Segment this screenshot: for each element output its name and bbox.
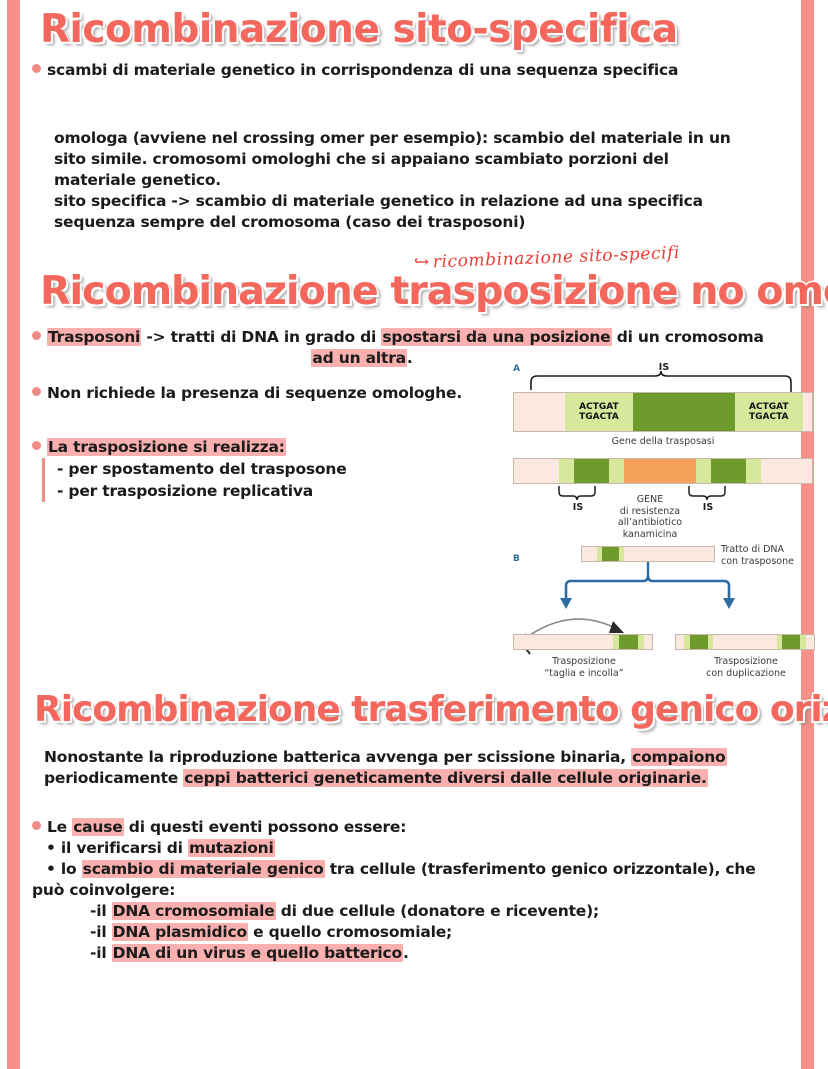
paragraph-omologa-line-2: sito simile. cromosomi omologhi che si a…: [54, 149, 784, 170]
heading-trasferimento-genico-orizzontale: Ricombinazione trasferimento genico oriz…: [34, 692, 828, 728]
bullet-dot-icon: [32, 64, 41, 73]
bullet-dot-icon: [32, 441, 41, 450]
sub1-highlight: mutazioni: [188, 839, 275, 857]
nonostante-highlight-1: compaiono: [631, 748, 726, 766]
heading-ricombinazione-sito-specifica: Ricombinazione sito-specifica: [40, 10, 678, 49]
notes-page: Ricombinazione sito-specifica scambi di …: [0, 0, 828, 1069]
trasposoni-tail: .: [407, 349, 413, 367]
cut-paste-result-bar: [513, 634, 653, 650]
cause-item-2: -il DNA plasmidico e quello cromosomiale…: [32, 922, 812, 943]
bullet-dot-icon: [32, 387, 41, 396]
bullet-scambi-materiale-genetico: scambi di materiale genetico in corrispo…: [32, 60, 678, 81]
trasposoni-highlight-1: Trasposoni: [47, 328, 141, 346]
item1-pre: -il: [90, 902, 112, 920]
caption-taglia-line-1: Trasposizione: [519, 656, 649, 668]
item3-pre: -il: [90, 944, 112, 962]
item1-highlight: DNA cromosomiale: [112, 902, 276, 920]
caption-duplicazione: Trasposizione con duplicazione: [681, 656, 811, 679]
trasposoni-highlight-2: spostarsi da una posizione: [381, 328, 611, 346]
sub2-highlight: scambio di materiale genico: [82, 860, 325, 878]
caption-duplicazione-line-1: Trasposizione: [681, 656, 811, 668]
realizza-item-1: - per spostamento del trasposone: [42, 458, 347, 480]
bullet-scambi-label: scambi di materiale genetico in corrispo…: [47, 61, 678, 79]
trasposoni-mid-2: di un cromosoma: [612, 328, 764, 346]
bullet-non-richiede: Non richiede la presenza di sequenze omo…: [32, 383, 462, 404]
cause-pre: Le: [47, 818, 72, 836]
handwritten-annotation-text: ricombinazione sito-specifi: [432, 243, 680, 272]
bullet-trasposizione-si-realizza: La trasposizione si realizza: - per spos…: [32, 437, 347, 502]
paragraph-omologa: omologa (avviene nel crossing omer per e…: [54, 128, 784, 233]
nonostante-highlight-2: ceppi batterici geneticamente diversi da…: [183, 769, 707, 787]
paragraph-omologa-line-1: omologa (avviene nel crossing omer per e…: [54, 128, 784, 149]
bullet-dot-icon: [32, 331, 41, 340]
sub1-pre: • il verificarsi di: [46, 839, 188, 857]
caption-taglia-line-2: “taglia e incolla”: [519, 668, 649, 680]
nonostante-part-2: periodicamente: [44, 769, 183, 787]
item3-post: .: [403, 944, 409, 962]
item2-pre: -il: [90, 923, 112, 941]
bullet-le-cause: Le cause di questi eventi possono essere…: [32, 817, 812, 964]
cause-sub-bullet-mutazioni: • il verificarsi di mutazioni: [32, 838, 812, 859]
page-content: Ricombinazione sito-specifica scambi di …: [26, 0, 801, 1069]
cause-item-3: -il DNA di un virus e quello batterico.: [32, 943, 812, 964]
realizza-item-2: - per trasposizione replicativa: [42, 480, 347, 502]
paragraph-nonostante: Nonostante la riproduzione batterica avv…: [44, 747, 814, 789]
transposon-diagram: A IS ACTGAT TGACTA ACTGAT: [509, 362, 825, 682]
cause-sub-bullet-scambio: • lo scambio di materiale genico tra cel…: [32, 859, 812, 880]
paragraph-omologa-line-3: materiale genetico.: [54, 170, 784, 191]
sub2-post: tra cellule (trasferimento genico orizzo…: [325, 860, 756, 878]
realizza-heading: La trasposizione si realizza:: [47, 438, 286, 456]
sub2-continuation: può coinvolgere:: [32, 880, 812, 901]
paragraph-omologa-line-4: sito specifica -> scambio di materiale g…: [54, 191, 784, 212]
cause-item-1: -il DNA cromosomiale di due cellule (don…: [32, 901, 812, 922]
sub2-pre: • lo: [46, 860, 82, 878]
bullet-non-richiede-label: Non richiede la presenza di sequenze omo…: [47, 384, 462, 402]
item2-highlight: DNA plasmidico: [112, 923, 248, 941]
heading-ricombinazione-trasposizione: Ricombinazione trasposizione no omologia: [40, 272, 828, 311]
duplication-result-bar: [675, 634, 815, 650]
paragraph-omologa-line-5: sequenza sempre del cromosoma (caso dei …: [54, 212, 784, 233]
cause-post: di questi eventi possono essere:: [124, 818, 407, 836]
caption-duplicazione-line-2: con duplicazione: [681, 668, 811, 680]
caption-taglia-incolla: Trasposizione “taglia e incolla”: [519, 656, 649, 679]
left-decorative-rail: [7, 0, 20, 1069]
trasposoni-mid-1: -> tratti di DNA in grado di: [141, 328, 381, 346]
bullet-dot-icon: [32, 821, 41, 830]
nonostante-part-1: Nonostante la riproduzione batterica avv…: [44, 748, 631, 766]
trasposoni-highlight-3: ad un altra: [311, 349, 407, 367]
item2-post: e quello cromosomiale;: [248, 923, 452, 941]
item1-post: di due cellule (donatore e ricevente);: [276, 902, 599, 920]
item3-highlight: DNA di un virus e quello batterico: [112, 944, 403, 962]
cause-highlight: cause: [72, 818, 123, 836]
